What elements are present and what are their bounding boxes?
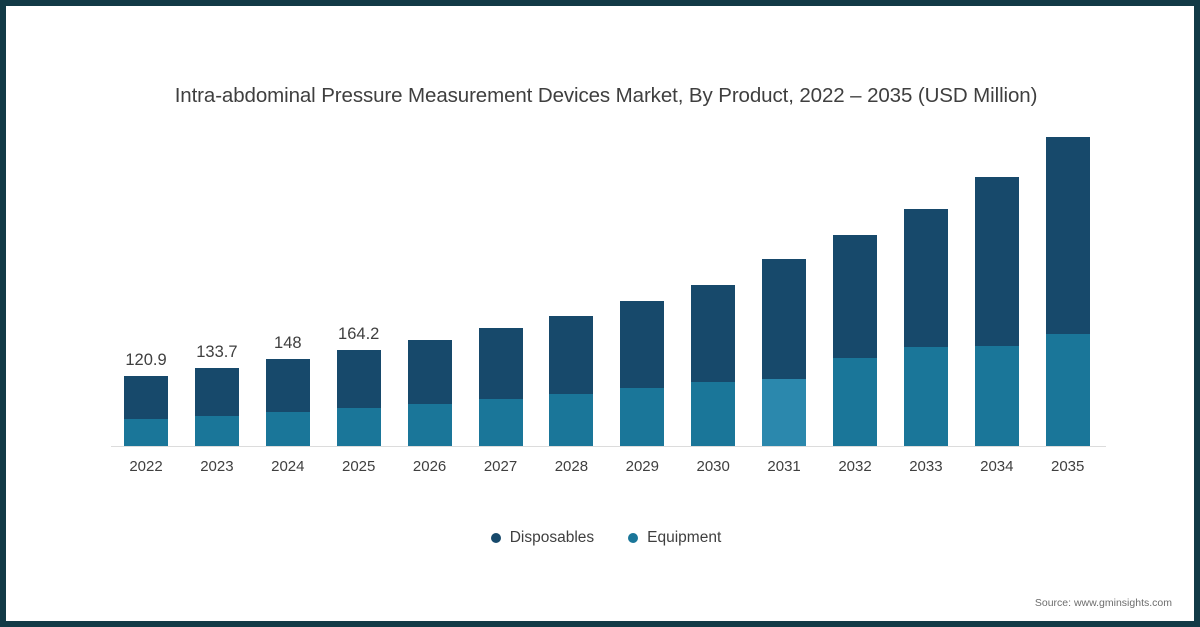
bar-2026[interactable] — [408, 340, 452, 446]
bar-2029[interactable] — [620, 301, 664, 446]
chart-title: Intra-abdominal Pressure Measurement Dev… — [6, 84, 1200, 108]
legend-swatch-disposables — [491, 533, 501, 543]
bar-segment-disposables-2023[interactable] — [195, 368, 239, 416]
bar-segment-disposables-2034[interactable] — [975, 177, 1019, 346]
bar-2035[interactable] — [1046, 137, 1090, 446]
x-axis-tick-2025: 2025 — [337, 458, 381, 475]
bar-segment-equipment-2033[interactable] — [904, 347, 948, 446]
x-axis-tick-2023: 2023 — [195, 458, 239, 475]
x-axis-tick-2029: 2029 — [620, 458, 664, 475]
bar-segment-equipment-2032[interactable] — [833, 358, 877, 446]
source-attribution: Source: www.gminsights.com — [1035, 597, 1172, 609]
bar-value-label-2025: 164.2 — [338, 325, 379, 344]
bar-2031[interactable] — [762, 259, 806, 446]
x-axis-tick-2022: 2022 — [124, 458, 168, 475]
bar-segment-disposables-2035[interactable] — [1046, 137, 1090, 334]
bar-segment-equipment-2025[interactable] — [337, 408, 381, 446]
bar-segment-disposables-2025[interactable] — [337, 350, 381, 408]
bar-2023[interactable]: 133.7 — [195, 368, 239, 446]
legend-label-equipment: Equipment — [647, 529, 721, 547]
bar-segment-equipment-2031[interactable] — [762, 379, 806, 446]
bar-segment-equipment-2026[interactable] — [408, 404, 452, 446]
legend-label-disposables: Disposables — [510, 529, 594, 547]
bar-2025[interactable]: 164.2 — [337, 350, 381, 446]
bar-segment-equipment-2023[interactable] — [195, 416, 239, 446]
bar-2028[interactable] — [549, 316, 593, 446]
x-axis-tick-2035: 2035 — [1046, 458, 1090, 475]
chart-frame: Intra-abdominal Pressure Measurement Dev… — [0, 0, 1200, 627]
bar-segment-disposables-2026[interactable] — [408, 340, 452, 404]
legend-item-disposables[interactable]: Disposables — [491, 529, 594, 547]
bar-segment-equipment-2035[interactable] — [1046, 334, 1090, 446]
bar-segment-equipment-2028[interactable] — [549, 394, 593, 446]
bar-2022[interactable]: 120.9 — [124, 376, 168, 446]
bar-segment-disposables-2024[interactable] — [266, 359, 310, 412]
chart-legend: Disposables Equipment — [6, 529, 1200, 547]
bar-segment-disposables-2032[interactable] — [833, 235, 877, 358]
bar-2030[interactable] — [691, 285, 735, 446]
bar-segment-disposables-2030[interactable] — [691, 285, 735, 382]
bar-2032[interactable] — [833, 235, 877, 446]
x-axis-tick-2024: 2024 — [266, 458, 310, 475]
x-axis-tick-2034: 2034 — [975, 458, 1019, 475]
bar-value-label-2023: 133.7 — [196, 343, 237, 362]
bar-2027[interactable] — [479, 328, 523, 446]
bar-segment-equipment-2024[interactable] — [266, 412, 310, 446]
x-axis-line — [111, 446, 1106, 447]
x-axis-tick-2030: 2030 — [691, 458, 735, 475]
legend-swatch-equipment — [628, 533, 638, 543]
bar-segment-equipment-2022[interactable] — [124, 419, 168, 446]
bar-segment-equipment-2034[interactable] — [975, 346, 1019, 446]
bar-segment-disposables-2022[interactable] — [124, 376, 168, 419]
x-axis-tick-2026: 2026 — [408, 458, 452, 475]
bar-segment-disposables-2033[interactable] — [904, 209, 948, 347]
bar-segment-disposables-2027[interactable] — [479, 328, 523, 399]
plot-area: 120.9133.7148164.2 — [111, 126, 1106, 446]
bar-value-label-2022: 120.9 — [125, 351, 166, 370]
x-axis-tick-2028: 2028 — [549, 458, 593, 475]
bar-segment-disposables-2029[interactable] — [620, 301, 664, 388]
bar-segment-disposables-2031[interactable] — [762, 259, 806, 379]
legend-item-equipment[interactable]: Equipment — [628, 529, 721, 547]
bar-2024[interactable]: 148 — [266, 359, 310, 446]
x-axis-tick-2032: 2032 — [833, 458, 877, 475]
bar-segment-equipment-2029[interactable] — [620, 388, 664, 446]
bar-segment-disposables-2028[interactable] — [549, 316, 593, 394]
bar-value-label-2024: 148 — [274, 334, 302, 353]
x-axis-tick-2031: 2031 — [762, 458, 806, 475]
bar-2033[interactable] — [904, 209, 948, 446]
bar-segment-equipment-2027[interactable] — [479, 399, 523, 446]
bar-2034[interactable] — [975, 177, 1019, 446]
x-axis-tick-2027: 2027 — [479, 458, 523, 475]
x-axis-tick-2033: 2033 — [904, 458, 948, 475]
bar-segment-equipment-2030[interactable] — [691, 382, 735, 446]
